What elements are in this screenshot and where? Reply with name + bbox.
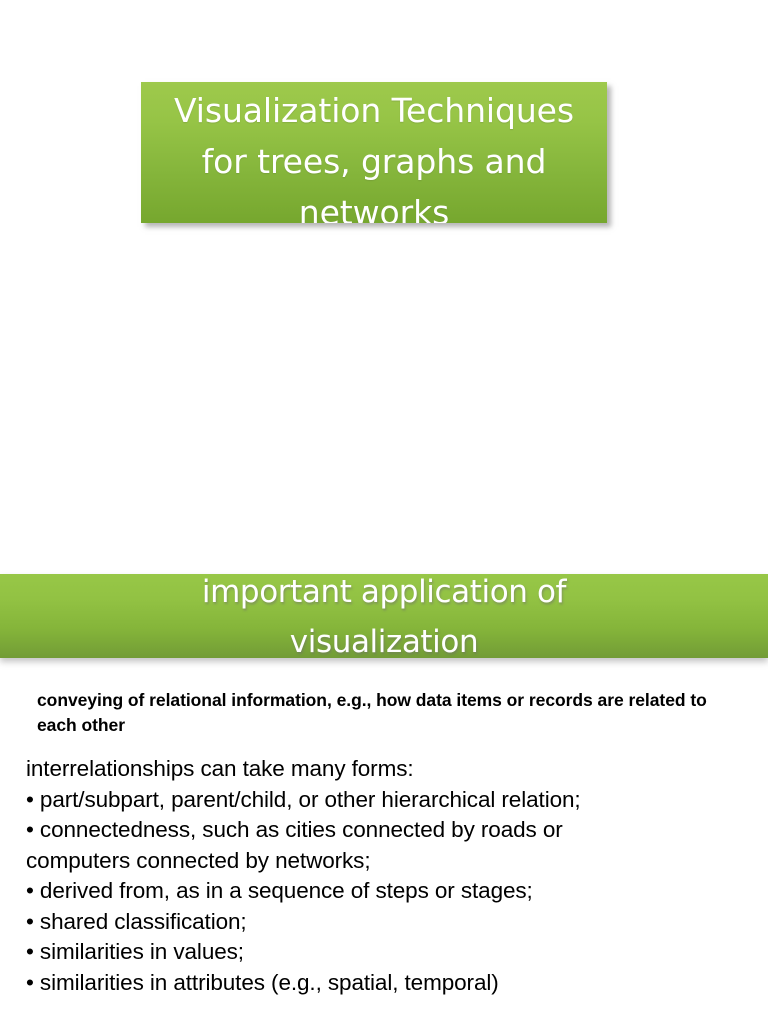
list-item: • shared classification; <box>26 907 726 938</box>
section-heading-text: important application of visualization <box>0 574 768 658</box>
slide-title: Visualization Techniques for trees, grap… <box>141 82 607 223</box>
list-item: • similarities in attributes (e.g., spat… <box>26 968 726 999</box>
list-item-intro: interrelationships can take many forms: <box>26 754 726 785</box>
list-item: • connectedness, such as cities connecte… <box>26 815 726 876</box>
lead-paragraph: conveying of relational information, e.g… <box>37 688 749 738</box>
list-item: • derived from, as in a sequence of step… <box>26 876 726 907</box>
section-heading-band: important application of visualization <box>0 574 768 658</box>
bullet-list: interrelationships can take many forms: … <box>26 754 726 998</box>
slide-page: Visualization Techniques for trees, grap… <box>0 0 768 1024</box>
list-item: • similarities in values; <box>26 937 726 968</box>
title-banner: Visualization Techniques for trees, grap… <box>141 82 607 223</box>
list-item: • part/subpart, parent/child, or other h… <box>26 785 726 816</box>
